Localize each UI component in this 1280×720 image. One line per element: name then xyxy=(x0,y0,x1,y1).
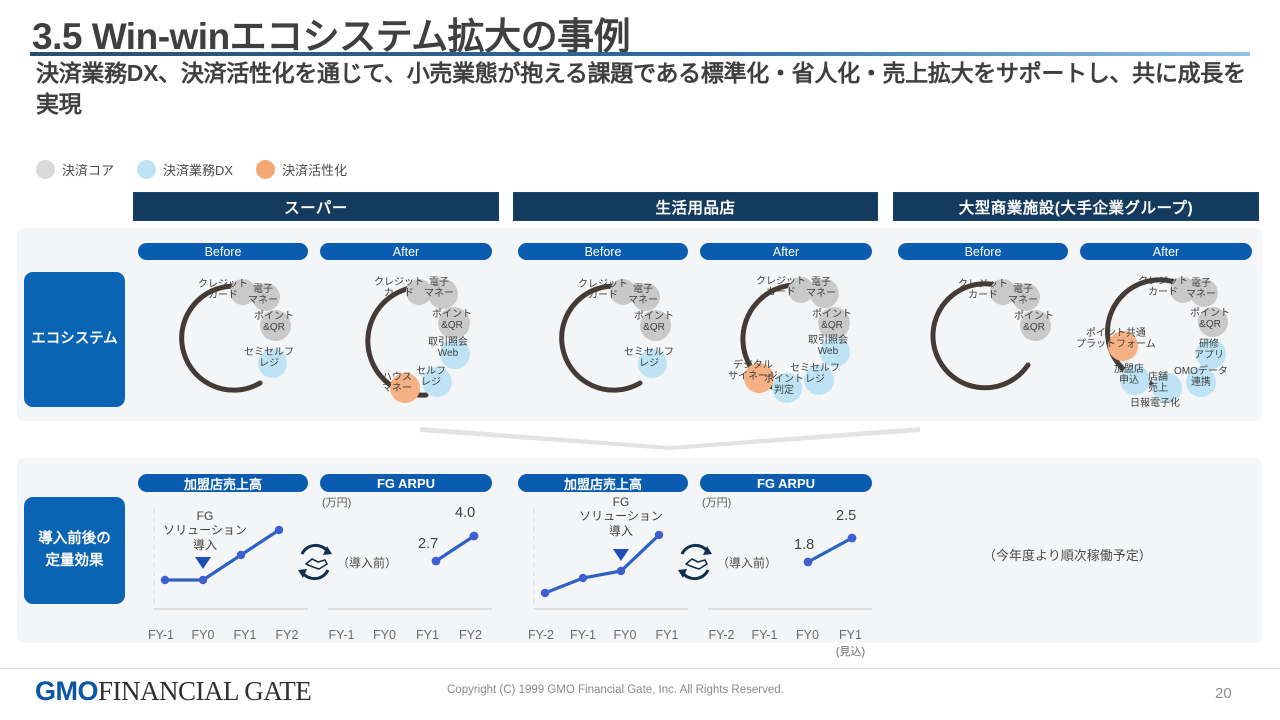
row-label-ecosystem: エコシステム xyxy=(24,272,125,407)
page-subtitle: 決済業務DX、決済活性化を通じて、小売業態が抱える課題である標準化・省人化・売上… xyxy=(36,58,1246,119)
axis-tick: FY2 xyxy=(449,628,492,642)
legend-item-activation: 決済活性化 xyxy=(256,160,347,179)
node-label-semi-self-register: セミセルフレジ xyxy=(244,348,294,370)
chart-point-label-arpu-daily-goods-fy1: 2.5 xyxy=(836,508,856,524)
ecosystem-diagram-supermarket-after: クレジットカード 電子マネー ポイント&QR 取引照会Web セルフレジ ハウス… xyxy=(330,265,510,415)
node-label-point-qr: ポイント&QR xyxy=(432,310,472,332)
legend-dot-activation xyxy=(256,160,275,179)
legend-item-dx: 決済業務DX xyxy=(137,160,233,179)
node-label-semi-self-register: セミセルフレジ xyxy=(624,348,674,370)
chart-point-label-arpu-daily-goods-fy0: 1.8 xyxy=(794,537,814,553)
chart-axis-labels-merchant-sales-supermarket: FY-1 FY0 FY1 FY2 xyxy=(140,628,310,642)
ecosystem-diagram-large-commercial-before: クレジットカード 電子マネー ポイント&QR xyxy=(908,265,1088,415)
node-label-training-app: 研修アプリ xyxy=(1194,340,1224,362)
axis-tick: FY2 xyxy=(266,628,308,642)
node-label-self-register: セルフレジ xyxy=(416,367,446,389)
row-label-effect: 導入前後の定量効果 xyxy=(24,497,125,604)
third-column-note: （今年度より順次稼働予定） xyxy=(983,545,1152,564)
node-label-emoney: 電子マネー xyxy=(628,285,658,307)
legend-dot-core xyxy=(36,160,55,179)
axis-tick: FY-2 xyxy=(700,628,743,642)
node-label-emoney: 電子マネー xyxy=(1186,279,1216,301)
axis-tick: FY-1 xyxy=(140,628,182,642)
axis-tick: FY0 xyxy=(786,628,829,642)
chart-point-label-arpu-supermarket-fy1: 2.7 xyxy=(418,536,438,552)
node-label-house-money: ハウスマネー xyxy=(382,373,412,395)
axis-tick: FY-2 xyxy=(520,628,562,642)
pill-after-supermarket: After xyxy=(320,243,492,260)
pill-after-large-commercial: After xyxy=(1080,243,1252,260)
node-label-credit-card: クレジットカード xyxy=(756,277,806,299)
legend-label-activation: 決済活性化 xyxy=(282,160,347,179)
node-label-merchant-apply: 加盟店申込 xyxy=(1114,365,1144,387)
legend-label-core: 決済コア xyxy=(62,160,114,179)
chart-axis-sublabel-arpu-daily-goods: (見込) xyxy=(829,643,872,659)
node-label-emoney: 電子マネー xyxy=(424,278,454,300)
ecosystem-diagram-large-commercial-after: クレジットカード 電子マネー ポイント&QR 研修アプリ OMOデータ連携 店舗… xyxy=(1090,263,1270,413)
pill-before-supermarket: Before xyxy=(138,243,308,260)
axis-tick: FY-1 xyxy=(743,628,786,642)
node-label-point-qr: ポイント&QR xyxy=(1014,312,1054,334)
node-label-point-qr: ポイント&QR xyxy=(634,312,674,334)
chart-title-merchant-sales-daily-goods: 加盟店売上高 xyxy=(518,474,688,492)
logo-financial-gate-text: FINANCIAL GATE xyxy=(98,676,311,706)
node-label-point-qr: ポイント&QR xyxy=(254,312,294,334)
chart-note-before-intro-supermarket: （導入前） xyxy=(337,554,397,571)
axis-tick: FY0 xyxy=(604,628,646,642)
node-label-point-platform: ポイント共通プラットフォーム xyxy=(1076,329,1156,351)
ecosystem-diagram-daily-goods-after: クレジットカード 電子マネー ポイント&QR 取引照会Web セミセルフレジ ポ… xyxy=(710,265,890,415)
axis-tick: FY0 xyxy=(182,628,224,642)
footer-divider xyxy=(0,668,1280,669)
pill-before-large-commercial: Before xyxy=(898,243,1068,260)
legend-dot-dx xyxy=(137,160,156,179)
node-label-credit-card: クレジットカード xyxy=(958,280,1008,302)
node-label-credit-card: クレジットカード xyxy=(578,280,628,302)
node-label-credit-card: クレジットカード xyxy=(374,278,424,300)
legend: 決済コア 決済業務DX 決済活性化 xyxy=(36,160,359,179)
chart-title-arpu-supermarket: FG ARPU xyxy=(320,474,492,492)
node-label-omo-link: OMOデータ連携 xyxy=(1174,367,1228,389)
axis-tick: FY-1 xyxy=(562,628,604,642)
slide-root: 3.5 Win-winエコシステム拡大の事例 決済業務DX、決済活性化を通じて、… xyxy=(0,0,1280,720)
node-label-point-qr: ポイント&QR xyxy=(812,310,852,332)
axis-tick: FY1 xyxy=(646,628,688,642)
node-label-store-sales-report: 日報電子化 xyxy=(1130,399,1180,410)
node-label-transaction-web: 取引照会Web xyxy=(428,338,468,360)
ecosystem-diagram-daily-goods-before: クレジットカード 電子マネー ポイント&QR セミセルフレジ xyxy=(528,265,708,415)
company-logo: GMOFINANCIAL GATE xyxy=(35,676,311,707)
node-label-credit-card: クレジットカード xyxy=(198,280,248,302)
pill-before-daily-goods: Before xyxy=(518,243,688,260)
node-label-digital-signage: デジタルサイネージ xyxy=(728,361,778,383)
chart-note-before-intro-daily-goods: （導入前） xyxy=(717,554,777,571)
pill-after-daily-goods: After xyxy=(700,243,872,260)
legend-item-core: 決済コア xyxy=(36,160,114,179)
chart-axis-labels-merchant-sales-daily-goods: FY-2 FY-1 FY0 FY1 xyxy=(520,628,690,642)
chart-annotation-fg-intro-daily-goods: FGソリューション導入 xyxy=(576,495,666,538)
node-label-store-sales: 店舗売上 xyxy=(1148,373,1168,395)
node-label-emoney: 電子マネー xyxy=(806,278,836,300)
node-label-credit-card: クレジットカード xyxy=(1138,277,1188,299)
column-header-large-commercial: 大型商業施設(大手企業グループ) xyxy=(893,192,1259,221)
chart-annotation-fg-intro-supermarket: FGソリューション導入 xyxy=(160,509,250,552)
node-label-transaction-web: 取引照会Web xyxy=(808,336,848,358)
column-header-daily-goods: 生活用品店 xyxy=(513,192,878,221)
node-label-emoney: 電子マネー xyxy=(248,285,278,307)
axis-tick: FY1 xyxy=(224,628,266,642)
chart-axis-labels-arpu-daily-goods: FY-2 FY-1 FY0 FY1 xyxy=(700,628,872,642)
axis-tick: FY0 xyxy=(363,628,406,642)
column-header-supermarket: スーパー xyxy=(133,192,499,221)
row-label-effect-line1: 導入前後の定量効果 xyxy=(38,529,111,571)
chart-title-merchant-sales-supermarket: 加盟店売上高 xyxy=(138,474,308,492)
ecosystem-diagram-supermarket-before: クレジットカード 電子マネー ポイント&QR セミセルフレジ xyxy=(148,265,328,415)
title-divider xyxy=(30,52,1250,56)
axis-tick: FY-1 xyxy=(320,628,363,642)
down-chevron-icon xyxy=(420,424,920,450)
copyright-text: Copyright (C) 1999 GMO Financial Gate, I… xyxy=(447,684,784,696)
node-label-point-qr: ポイント&QR xyxy=(1190,309,1230,331)
page-number: 20 xyxy=(1215,685,1232,702)
chart-title-arpu-daily-goods: FG ARPU xyxy=(700,474,872,492)
axis-tick: FY1 xyxy=(406,628,449,642)
logo-gmo-text: GMO xyxy=(35,676,98,706)
chart-point-label-arpu-supermarket-fy2: 4.0 xyxy=(455,505,475,521)
chart-axis-labels-arpu-supermarket: FY-1 FY0 FY1 FY2 xyxy=(320,628,492,642)
node-label-emoney: 電子マネー xyxy=(1008,285,1038,307)
legend-label-dx: 決済業務DX xyxy=(163,160,233,179)
axis-tick: FY1 xyxy=(829,628,872,642)
